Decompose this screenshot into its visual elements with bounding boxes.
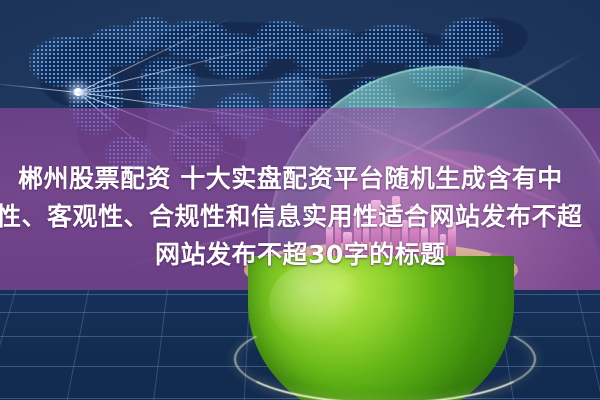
headline-line-1: 郴州股票配资 十大实盘配资平台随机生成含有中	[18, 160, 563, 198]
headline-line-3: 网站发布不超30字的标题	[155, 236, 446, 274]
stock-banner-image: 郴州股票配资 十大实盘配资平台随机生成含有中 性、客观性、合规性和信息实用性适合…	[0, 0, 600, 400]
headline-line-2: 性、客观性、合规性和信息实用性适合网站发布不超	[0, 198, 583, 236]
dome-light-ring	[234, 314, 536, 400]
